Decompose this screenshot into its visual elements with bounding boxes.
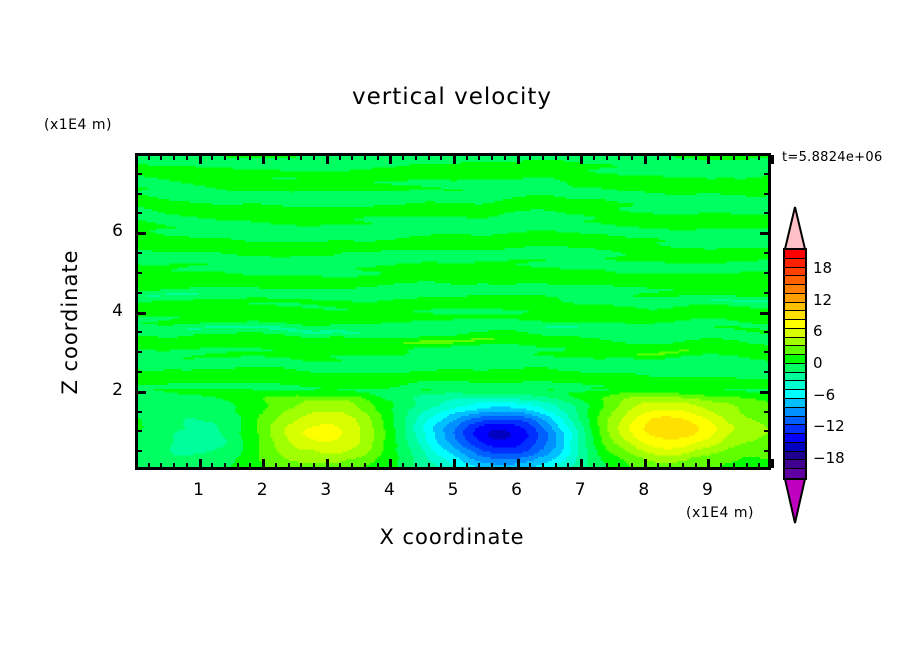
tick-mark	[580, 155, 583, 164]
tick-mark	[160, 155, 162, 160]
tick-mark	[504, 155, 506, 160]
tick-mark	[389, 155, 392, 164]
colorbar-tick-label: 0	[813, 354, 823, 372]
tick-mark	[606, 155, 608, 160]
tick-mark	[618, 463, 620, 468]
tick-mark	[453, 155, 456, 164]
tick-mark	[746, 155, 748, 160]
x-tick-label: 8	[624, 480, 664, 500]
colorbar-band	[785, 390, 805, 399]
colorbar-band	[785, 311, 805, 320]
colorbar-tick-label: −18	[813, 449, 845, 467]
tick-mark	[224, 155, 226, 160]
tick-mark	[211, 463, 213, 468]
tick-mark	[262, 459, 265, 468]
tick-mark	[466, 463, 468, 468]
tick-mark	[644, 155, 647, 164]
tick-mark	[326, 459, 329, 468]
colorbar-band	[785, 268, 805, 277]
tick-mark	[631, 463, 633, 468]
tick-mark	[580, 459, 583, 468]
tick-mark	[760, 391, 769, 394]
tick-mark	[764, 331, 769, 333]
tick-mark	[764, 411, 769, 413]
colorbar-tick-label: −6	[813, 386, 835, 404]
tick-mark	[275, 463, 277, 468]
tick-mark	[199, 155, 202, 164]
x-tick-label: 1	[179, 480, 219, 500]
tick-mark	[771, 155, 774, 164]
y-tick-label: 6	[83, 221, 123, 241]
colorbar: 181260−6−12−18	[783, 206, 807, 524]
x-tick-label: 3	[306, 480, 346, 500]
tick-mark	[275, 155, 277, 160]
colorbar-band	[785, 320, 805, 329]
colorbar-under-arrow	[783, 478, 807, 524]
tick-mark	[542, 463, 544, 468]
tick-mark	[529, 463, 531, 468]
tick-mark	[746, 463, 748, 468]
tick-mark	[555, 463, 557, 468]
tick-mark	[758, 155, 760, 160]
tick-mark	[173, 155, 175, 160]
tick-mark	[237, 155, 239, 160]
tick-mark	[517, 459, 520, 468]
tick-mark	[491, 155, 493, 160]
colorbar-over-arrow	[783, 206, 807, 250]
tick-mark	[186, 155, 188, 160]
tick-mark	[137, 193, 142, 195]
tick-mark	[137, 312, 146, 315]
x-axis-title: X coordinate	[0, 525, 904, 549]
x-tick-label: 2	[242, 480, 282, 500]
chart-title: vertical velocity	[0, 84, 904, 110]
colorbar-band	[785, 338, 805, 347]
tick-mark	[764, 212, 769, 214]
tick-mark	[137, 430, 142, 432]
tick-mark	[415, 155, 417, 160]
colorbar-band	[785, 460, 805, 469]
tick-mark	[764, 430, 769, 432]
tick-mark	[657, 463, 659, 468]
tick-mark	[364, 463, 366, 468]
tick-mark	[389, 459, 392, 468]
tick-mark	[771, 459, 774, 468]
tick-mark	[137, 173, 142, 175]
x-tick-label: 7	[560, 480, 600, 500]
tick-mark	[237, 463, 239, 468]
tick-mark	[517, 155, 520, 164]
tick-mark	[148, 463, 150, 468]
tick-mark	[415, 463, 417, 468]
colorbar-band	[785, 381, 805, 390]
tick-mark	[249, 463, 251, 468]
colorbar-tick-label: −12	[813, 417, 845, 435]
colorbar-band	[785, 434, 805, 443]
tick-mark	[657, 155, 659, 160]
tick-mark	[137, 371, 142, 373]
tick-mark	[707, 155, 710, 164]
tick-mark	[137, 411, 142, 413]
tick-mark	[764, 272, 769, 274]
tick-mark	[695, 155, 697, 160]
tick-mark	[377, 463, 379, 468]
tick-mark	[764, 351, 769, 353]
tick-mark	[224, 463, 226, 468]
tick-mark	[478, 463, 480, 468]
tick-mark	[760, 312, 769, 315]
colorbar-band	[785, 250, 805, 259]
tick-mark	[682, 155, 684, 160]
tick-mark	[707, 459, 710, 468]
tick-mark	[137, 212, 142, 214]
tick-mark	[326, 155, 329, 164]
y-tick-label: 2	[83, 380, 123, 400]
tick-mark	[211, 155, 213, 160]
tick-mark	[453, 459, 456, 468]
tick-mark	[593, 463, 595, 468]
tick-mark	[555, 155, 557, 160]
tick-mark	[262, 155, 265, 164]
colorbar-bands	[783, 248, 807, 480]
tick-mark	[199, 459, 202, 468]
tick-mark	[148, 155, 150, 160]
tick-mark	[606, 463, 608, 468]
colorbar-band	[785, 303, 805, 312]
tick-mark	[440, 155, 442, 160]
tick-mark	[764, 252, 769, 254]
tick-mark	[631, 155, 633, 160]
tick-mark	[351, 463, 353, 468]
x-tick-label: 5	[433, 480, 473, 500]
tick-mark	[377, 155, 379, 160]
tick-mark	[593, 155, 595, 160]
tick-mark	[137, 292, 142, 294]
tick-mark	[669, 155, 671, 160]
tick-mark	[402, 155, 404, 160]
tick-mark	[137, 272, 142, 274]
tick-mark	[137, 351, 142, 353]
colorbar-band	[785, 355, 805, 364]
x-axis-unit-label: (x1E4 m)	[686, 505, 754, 521]
tick-mark	[137, 252, 142, 254]
tick-mark	[351, 155, 353, 160]
colorbar-band	[785, 285, 805, 294]
colorbar-band	[785, 259, 805, 268]
tick-mark	[300, 155, 302, 160]
tick-mark	[137, 391, 146, 394]
colorbar-band	[785, 294, 805, 303]
colorbar-band	[785, 346, 805, 355]
tick-mark	[760, 232, 769, 235]
tick-mark	[173, 463, 175, 468]
tick-mark	[313, 463, 315, 468]
tick-mark	[682, 463, 684, 468]
tick-mark	[364, 155, 366, 160]
tick-mark	[339, 463, 341, 468]
tick-mark	[249, 155, 251, 160]
tick-mark	[160, 463, 162, 468]
tick-mark	[764, 193, 769, 195]
tick-mark	[567, 463, 569, 468]
tick-mark	[644, 459, 647, 468]
tick-mark	[428, 155, 430, 160]
velocity-field	[138, 156, 768, 467]
tick-mark	[491, 463, 493, 468]
tick-mark	[720, 463, 722, 468]
colorbar-band	[785, 408, 805, 417]
tick-mark	[567, 155, 569, 160]
tick-mark	[733, 155, 735, 160]
colorbar-tick-label: 12	[813, 291, 832, 309]
colorbar-tick-label: 6	[813, 322, 823, 340]
tick-mark	[478, 155, 480, 160]
tick-mark	[339, 155, 341, 160]
tick-mark	[504, 463, 506, 468]
figure-canvas: vertical velocity (x1E4 m) (x1E4 m) t=5.…	[0, 0, 904, 654]
tick-mark	[313, 155, 315, 160]
colorbar-band	[785, 276, 805, 285]
tick-mark	[529, 155, 531, 160]
tick-mark	[542, 155, 544, 160]
y-axis-title: Z coordinate	[58, 222, 82, 422]
tick-mark	[300, 463, 302, 468]
tick-mark	[428, 463, 430, 468]
tick-mark	[137, 331, 142, 333]
colorbar-band	[785, 417, 805, 426]
tick-mark	[402, 463, 404, 468]
tick-mark	[288, 155, 290, 160]
contour-plot-area	[135, 153, 771, 470]
x-tick-label: 6	[497, 480, 537, 500]
tick-mark	[764, 371, 769, 373]
tick-mark	[186, 463, 188, 468]
tick-mark	[618, 155, 620, 160]
x-tick-label: 4	[369, 480, 409, 500]
tick-mark	[720, 155, 722, 160]
colorbar-band	[785, 469, 805, 478]
x-tick-label: 9	[687, 480, 727, 500]
colorbar-band	[785, 452, 805, 461]
colorbar-band	[785, 443, 805, 452]
colorbar-band	[785, 329, 805, 338]
tick-mark	[466, 155, 468, 160]
tick-mark	[137, 232, 146, 235]
tick-mark	[695, 463, 697, 468]
colorbar-band	[785, 399, 805, 408]
tick-mark	[764, 292, 769, 294]
colorbar-band	[785, 425, 805, 434]
tick-mark	[764, 450, 769, 452]
colorbar-band	[785, 364, 805, 373]
colorbar-tick-label: 18	[813, 259, 832, 277]
tick-mark	[440, 463, 442, 468]
colorbar-band	[785, 373, 805, 382]
tick-mark	[288, 463, 290, 468]
y-tick-label: 4	[83, 301, 123, 321]
tick-mark	[758, 463, 760, 468]
tick-mark	[764, 173, 769, 175]
timestamp-label: t=5.8824e+06	[782, 150, 883, 165]
y-axis-unit-label: (x1E4 m)	[44, 117, 112, 133]
tick-mark	[137, 450, 142, 452]
tick-mark	[669, 463, 671, 468]
tick-mark	[733, 463, 735, 468]
